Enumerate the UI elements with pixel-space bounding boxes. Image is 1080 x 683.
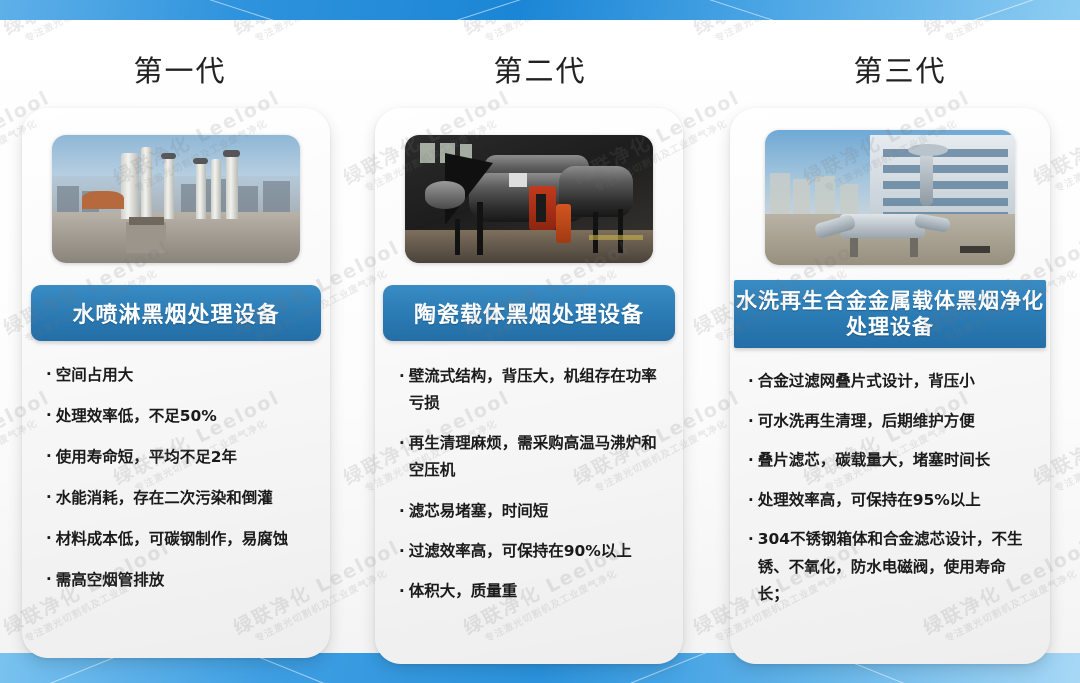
- list-item: · 需高空烟管排放: [46, 568, 306, 592]
- card-generation-1[interactable]: 水喷淋黑烟处理设备 · 空间占用大 · 处理效率低，不足50% · 使用寿命短，…: [22, 108, 330, 658]
- watermark-main-text: 绿联净化 Leelool: [230, 20, 404, 41]
- watermark-main-text: 绿联净化 Leelool: [460, 20, 634, 41]
- list-item: · 材料成本低，可碳钢制作，易腐蚀: [46, 527, 306, 551]
- watermark-text: 绿联净化 Leelool专注激光切割机及工业废气净化: [920, 20, 1080, 52]
- bullet-dot-icon: ·: [748, 447, 754, 474]
- card-3-photo: [765, 130, 1015, 265]
- bullet-dot-icon: ·: [748, 408, 754, 435]
- watermark-text: 绿联净化 Leelool专注激光切割机及工业废气净化: [230, 20, 410, 52]
- bullet-dot-icon: ·: [399, 498, 405, 524]
- bullet-dot-icon: ·: [46, 568, 52, 591]
- bullet-text: 再生清理麻烦，需采购高温马沸炉和空压机: [409, 430, 659, 484]
- heading-gen-1: 第一代: [0, 48, 360, 96]
- photo-scrubber-towers: [52, 135, 300, 263]
- top-banner-fill: [0, 0, 1080, 20]
- top-banner: [0, 0, 1080, 20]
- card-1-photo: [52, 135, 300, 263]
- bullet-text: 水能消耗，存在二次污染和倒灌: [56, 486, 306, 510]
- bullet-text: 处理效率高，可保持在95%以上: [758, 487, 1032, 515]
- bullet-text: 滤芯易堵塞，时间短: [409, 498, 659, 525]
- list-item: · 体积大，质量重: [399, 578, 659, 605]
- bullet-dot-icon: ·: [399, 363, 405, 389]
- photo-stainless-purifier: [765, 130, 1015, 265]
- list-item: · 过滤效率高，可保持在90%以上: [399, 538, 659, 565]
- list-item: · 使用寿命短，平均不足2年: [46, 445, 306, 469]
- bullet-dot-icon: ·: [748, 487, 754, 514]
- list-item: · 合金过滤网叠片式设计，背压小: [748, 368, 1032, 396]
- bullet-text: 304不锈钢箱体和合金滤芯设计，不生锈、不氧化，防水电磁阀，使用寿命长；: [758, 526, 1032, 609]
- watermark-sub-text: 专注激光切割机及工业废气净化: [713, 20, 870, 45]
- bullet-dot-icon: ·: [399, 430, 405, 456]
- watermark-main-text: 绿联净化 Leelool: [690, 20, 864, 41]
- slide-stage: 第一代 第二代 第三代: [0, 20, 1080, 653]
- list-item: · 处理效率低，不足50%: [46, 404, 306, 428]
- bullet-text: 使用寿命短，平均不足2年: [56, 445, 306, 469]
- generation-cards: 水喷淋黑烟处理设备 · 空间占用大 · 处理效率低，不足50% · 使用寿命短，…: [0, 108, 1080, 664]
- heading-gen-2: 第二代: [360, 48, 720, 96]
- bullet-text: 合金过滤网叠片式设计，背压小: [758, 368, 1032, 396]
- watermark-main-text: 绿联净化 Leelool: [0, 20, 174, 41]
- watermark-sub-text: 专注激光切割机及工业废气净化: [23, 20, 180, 45]
- photo-ceramic-machine: [405, 135, 653, 263]
- heading-gen-3: 第三代: [720, 48, 1080, 96]
- list-item: · 叠片滤芯，碳载量大，堵塞时间长: [748, 447, 1032, 475]
- bullet-text: 体积大，质量重: [409, 578, 659, 605]
- bullet-dot-icon: ·: [46, 486, 52, 509]
- list-item: · 壁流式结构，背压大，机组存在功率亏损: [399, 363, 659, 417]
- watermark-text: 绿联净化 Leelool专注激光切割机及工业废气净化: [0, 20, 180, 52]
- watermark-text: 绿联净化 Leelool专注激光切割机及工业废气净化: [460, 20, 640, 52]
- list-item: · 空间占用大: [46, 363, 306, 387]
- card-2-title: 陶瓷载体黑烟处理设备: [383, 285, 675, 341]
- bullet-dot-icon: ·: [46, 445, 52, 468]
- card-3-title: 水洗再生合金金属载体黑烟净化处理设备: [734, 280, 1046, 348]
- bullet-text: 空间占用大: [56, 363, 306, 387]
- list-item: · 可水洗再生清理，后期维护方便: [748, 408, 1032, 436]
- list-item: · 水能消耗，存在二次污染和倒灌: [46, 486, 306, 510]
- bullet-text: 过滤效率高，可保持在90%以上: [409, 538, 659, 565]
- bullet-text: 材料成本低，可碳钢制作，易腐蚀: [56, 527, 306, 551]
- watermark-sub-text: 专注激光切割机及工业废气净化: [253, 20, 410, 45]
- card-2-bullet-list: · 壁流式结构，背压大，机组存在功率亏损 · 再生清理麻烦，需采购高温马沸炉和空…: [375, 363, 683, 618]
- card-1-bullet-list: · 空间占用大 · 处理效率低，不足50% · 使用寿命短，平均不足2年 · 水…: [22, 363, 330, 609]
- bullet-dot-icon: ·: [399, 578, 405, 604]
- card-generation-2[interactable]: 陶瓷载体黑烟处理设备 · 壁流式结构，背压大，机组存在功率亏损 · 再生清理麻烦…: [375, 108, 683, 664]
- list-item: · 304不锈钢箱体和合金滤芯设计，不生锈、不氧化，防水电磁阀，使用寿命长；: [748, 526, 1032, 609]
- watermark-sub-text: 专注激光切割机及工业废气净化: [943, 20, 1080, 45]
- card-1-title: 水喷淋黑烟处理设备: [31, 285, 321, 341]
- card-3-bullet-list: · 合金过滤网叠片式设计，背压小 · 可水洗再生清理，后期维护方便 · 叠片滤芯…: [730, 368, 1050, 621]
- generation-headings: 第一代 第二代 第三代: [0, 48, 1080, 96]
- bullet-dot-icon: ·: [46, 404, 52, 427]
- card-2-photo: [405, 135, 653, 263]
- list-item: · 滤芯易堵塞，时间短: [399, 498, 659, 525]
- watermark-main-text: 绿联净化 Leelool: [920, 20, 1080, 41]
- list-item: · 再生清理麻烦，需采购高温马沸炉和空压机: [399, 430, 659, 484]
- list-item: · 处理效率高，可保持在95%以上: [748, 487, 1032, 515]
- card-generation-3[interactable]: 水洗再生合金金属载体黑烟净化处理设备 · 合金过滤网叠片式设计，背压小 · 可水…: [730, 108, 1050, 664]
- bullet-dot-icon: ·: [748, 526, 754, 553]
- bullet-dot-icon: ·: [46, 527, 52, 550]
- bullet-text: 壁流式结构，背压大，机组存在功率亏损: [409, 363, 659, 417]
- bullet-text: 处理效率低，不足50%: [56, 404, 306, 428]
- bullet-text: 可水洗再生清理，后期维护方便: [758, 408, 1032, 436]
- watermark-text: 绿联净化 Leelool专注激光切割机及工业废气净化: [690, 20, 870, 52]
- bullet-dot-icon: ·: [399, 538, 405, 564]
- bullet-dot-icon: ·: [46, 363, 52, 386]
- bullet-text: 需高空烟管排放: [56, 568, 306, 592]
- bullet-text: 叠片滤芯，碳载量大，堵塞时间长: [758, 447, 1032, 475]
- bullet-dot-icon: ·: [748, 368, 754, 395]
- watermark-sub-text: 专注激光切割机及工业废气净化: [483, 20, 640, 45]
